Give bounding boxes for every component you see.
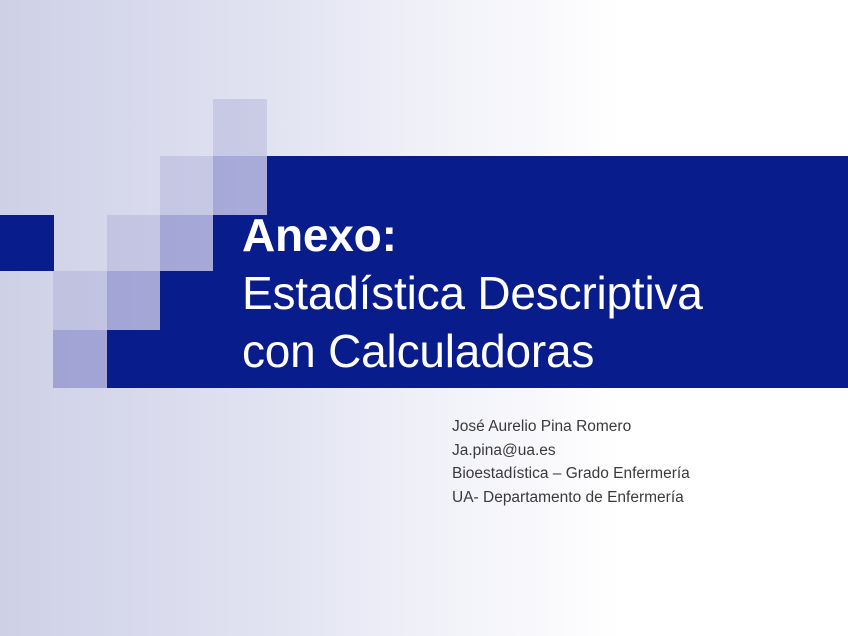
decorative-square bbox=[160, 156, 213, 215]
title-line-2: Estadística Descriptiva bbox=[242, 264, 842, 322]
navy-accent-square bbox=[0, 215, 54, 271]
decorative-square bbox=[107, 271, 160, 330]
decorative-square bbox=[53, 271, 107, 330]
department-line: UA- Departamento de Enfermería bbox=[452, 486, 822, 510]
title-slide: Anexo: Estadística Descriptiva con Calcu… bbox=[0, 0, 848, 636]
title-line-1: Anexo: bbox=[242, 206, 842, 264]
slide-title: Anexo: Estadística Descriptiva con Calcu… bbox=[242, 206, 842, 380]
decorative-square bbox=[107, 215, 160, 271]
course-line: Bioestadística – Grado Enfermería bbox=[452, 462, 822, 486]
decorative-square bbox=[213, 99, 267, 156]
slide-subtitle: José Aurelio Pina Romero Ja.pina@ua.es B… bbox=[452, 415, 822, 509]
decorative-square bbox=[53, 330, 107, 388]
author-email: Ja.pina@ua.es bbox=[452, 439, 822, 463]
title-line-3: con Calculadoras bbox=[242, 322, 842, 380]
decorative-square bbox=[160, 215, 213, 271]
author-name: José Aurelio Pina Romero bbox=[452, 415, 822, 439]
